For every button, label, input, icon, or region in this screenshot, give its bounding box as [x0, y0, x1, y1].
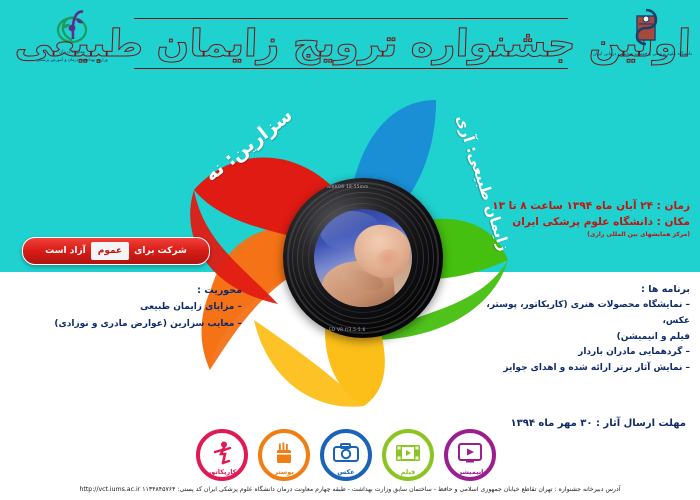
poster-icon: [267, 436, 301, 470]
program-item: فیلم و انیمیشن): [468, 330, 690, 346]
lens-text-top: NIKKOR 18-55mm: [327, 184, 368, 189]
program-list-title: برنامه ها :: [468, 282, 690, 298]
category-film[interactable]: فیلم: [382, 429, 434, 481]
university-logo-caption: دانشگاه علوم پزشکی و خدمات بهداشتی درمان…: [600, 52, 692, 59]
poster-header: معاونت درمان وزارت بهداشت، درمان و آموزش…: [0, 0, 700, 78]
title-block: اولین جشنواره ترویج زایمان طبیعی: [128, 6, 578, 74]
footer-address-text: آدرس دبیرخانه جشنواره : تهران تقاطع خیاب…: [142, 486, 620, 493]
festival-poster: معاونت درمان وزارت بهداشت، درمان و آموزش…: [0, 0, 700, 500]
category-caricature[interactable]: کاریکاتور: [196, 429, 248, 481]
free-participation-badge: شرکت برای عموم آزاد است: [22, 237, 210, 265]
camera-lens-graphic: NIKKOR 18-55mm ED VR f/3.5-5.6: [283, 178, 443, 338]
program-item: – نمایش آثار برتر ارائه شده و اهدای جوای…: [468, 361, 690, 377]
event-place-sub: (مرکز همایشهای بین المللی رازی): [472, 231, 690, 239]
category-icon-row: انیمیشن فیلم: [196, 428, 496, 482]
badge-segment-highlight: عموم: [91, 242, 129, 260]
university-logo: دانشگاه علوم پزشکی و خدمات بهداشتی درمان…: [600, 4, 692, 74]
category-animation[interactable]: انیمیشن: [444, 429, 496, 481]
page-title: اولین جشنواره ترویج زایمان طبیعی: [118, 14, 588, 72]
footer-block: آدرس دبیرخانه جشنواره : تهران تقاطع خیاب…: [0, 485, 700, 494]
category-label: پوستر: [258, 468, 310, 476]
category-label: عکس: [320, 468, 372, 476]
event-time-line: زمان : ۲۴ آبان ماه ۱۳۹۴ ساعت ۸ تا ۱۳: [472, 198, 690, 214]
camera-icon: [329, 436, 363, 470]
program-item: – نمایشگاه محصولات هنری (کاریکاتور، پوست…: [468, 298, 690, 330]
lens-text-bottom: ED VR f/3.5-5.6: [329, 327, 366, 332]
badge-segment-1: شرکت برای: [129, 246, 192, 256]
lens-glass-reflection: [320, 211, 382, 251]
caricature-icon: [205, 436, 239, 470]
program-item: – گردهمایی مادران باردار: [468, 345, 690, 361]
film-icon: [391, 436, 425, 470]
program-list-block: برنامه ها : – نمایشگاه محصولات هنری (کار…: [468, 282, 690, 377]
event-place-line: مکان : دانشگاه علوم پزشکی ایران: [472, 214, 690, 230]
footer-url[interactable]: http://vct.iums.ac.ir: [80, 485, 141, 494]
baby-cheek: [376, 249, 402, 271]
university-emblem-icon: [626, 4, 666, 48]
event-info-block: زمان : ۲۴ آبان ماه ۱۳۹۴ ساعت ۸ تا ۱۳ مکا…: [472, 198, 690, 239]
category-poster[interactable]: پوستر: [258, 429, 310, 481]
lens-glass: [314, 209, 412, 307]
category-label: کاریکاتور: [196, 468, 248, 476]
animation-icon: [453, 436, 487, 470]
category-label: انیمیشن: [444, 468, 496, 476]
topics-list-block: محوریت : – مزایای زایمان طبیعی – معایب س…: [10, 282, 242, 333]
category-label: فیلم: [382, 468, 434, 476]
topics-item: – معایب سزارین (عوارض مادری و نوزادی): [10, 316, 242, 333]
badge-segment-2: آزاد است: [40, 246, 91, 256]
category-photo[interactable]: عکس: [320, 429, 372, 481]
footer-address: آدرس دبیرخانه جشنواره : تهران تقاطع خیاب…: [0, 485, 700, 494]
topics-item: – مزایای زایمان طبیعی: [10, 299, 242, 316]
topics-list-title: محوریت :: [10, 282, 242, 299]
